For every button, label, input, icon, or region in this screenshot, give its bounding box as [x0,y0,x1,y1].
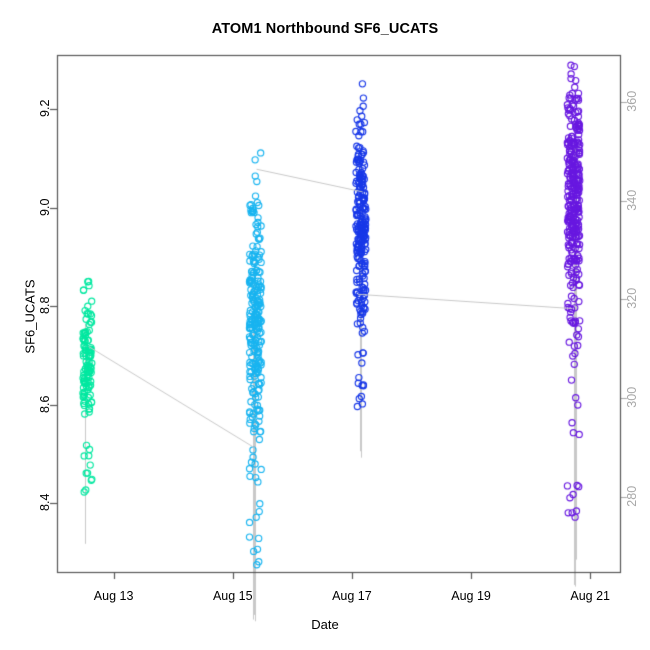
x-tick-label: Aug 19 [451,590,491,603]
y-tick-label: 8.6 [39,384,52,424]
right-tick-label: 340 [626,180,639,220]
right-tick-label: 320 [626,279,639,319]
page-title: ATOM1 Northbound SF6_UCATS [0,22,650,37]
right-tick-label: 360 [626,81,639,121]
right-tick-label: 300 [626,377,639,417]
y-tick-label: 9.2 [39,88,52,128]
x-tick-label: Aug 17 [332,590,372,603]
x-tick-label: Aug 15 [213,590,253,603]
y-axis-label: SF6_UCATS [24,227,37,407]
right-tick-label: 280 [626,476,639,516]
x-tick-label: Aug 21 [570,590,610,603]
x-tick-label: Aug 13 [94,590,134,603]
chart-container: ATOM1 Northbound SF6_UCATS Date SF6_UCAT… [0,0,650,650]
y-tick-label: 8.8 [39,285,52,325]
y-tick-label: 9.0 [39,187,52,227]
scatter-plot-canvas [0,0,650,650]
y-tick-label: 8.4 [39,482,52,522]
x-axis-label: Date [0,618,650,631]
